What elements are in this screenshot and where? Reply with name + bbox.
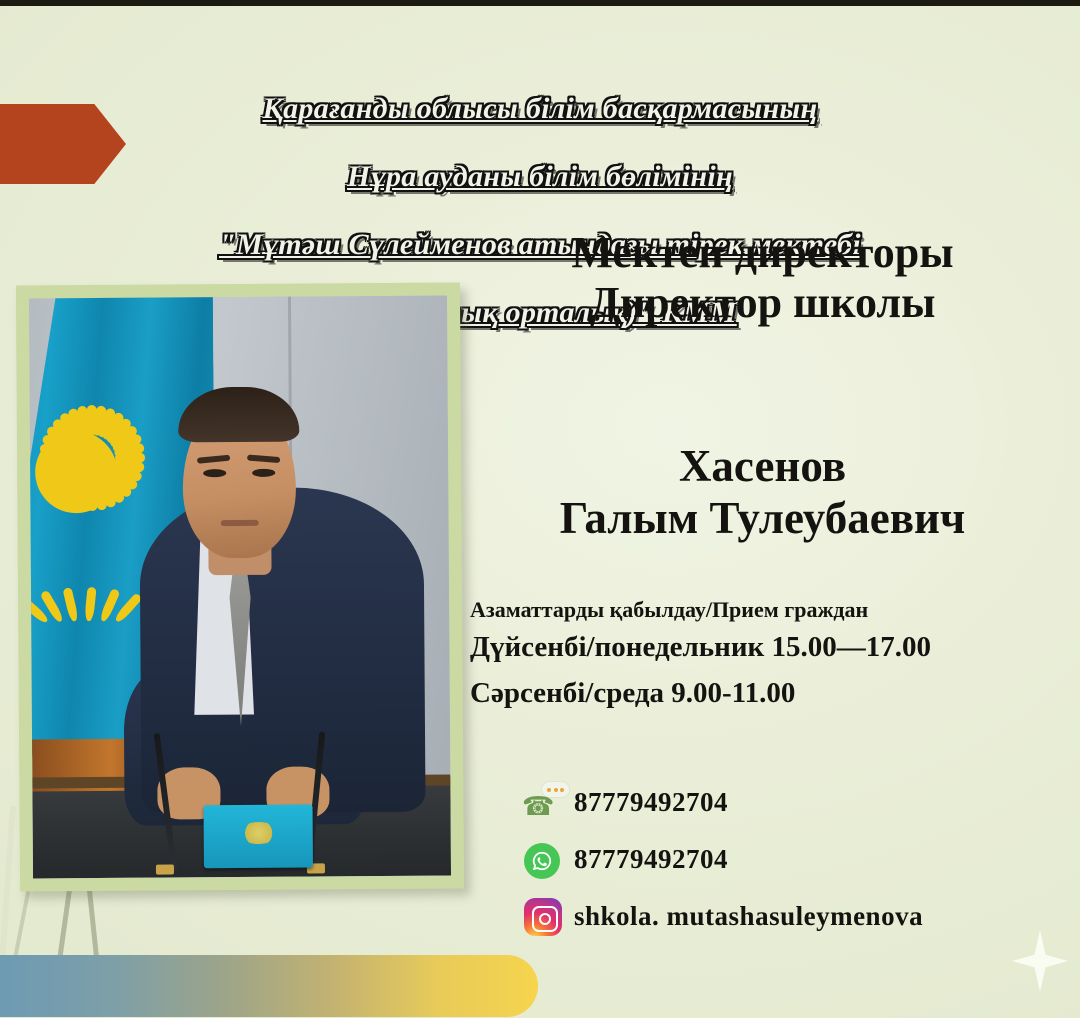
contact-row-phone[interactable]: ☎ 87779492704 (518, 778, 1078, 826)
top-edge-strip (0, 0, 1080, 6)
school-title-line-2: Нұра ауданы білім бөлімінің (40, 160, 1040, 194)
director-photo (29, 296, 451, 879)
notebook-emblem (239, 822, 278, 844)
contact-value-phone: 87779492704 (574, 787, 728, 818)
reception-heading: Азаматтарды қабылдау/Прием граждан (470, 596, 1070, 624)
whatsapp-icon (518, 837, 574, 881)
reception-line-monday: Дүйсенбі/понедельник 15.00—17.00 (470, 624, 1070, 670)
person-mouth (221, 520, 259, 527)
phone-icon: ☎ (518, 780, 574, 824)
director-photo-frame (16, 282, 464, 891)
school-title-line-1: Қарағанды облысы білім басқармасының (40, 92, 1040, 126)
instagram-glyph (524, 898, 562, 936)
contact-value-instagram: shkola. mutashasuleymenova (574, 901, 923, 932)
contact-row-whatsapp[interactable]: 87779492704 (518, 835, 1078, 883)
flag-eagle (42, 584, 128, 621)
reception-hours-block: Азаматтарды қабылдау/Прием граждан Дүйсе… (470, 596, 1070, 716)
poster-canvas: Қарағанды облысы білім басқармасының Нұр… (0, 0, 1080, 1018)
director-name: Хасенов Галым Тулеубаевич (455, 440, 1070, 544)
person-eye-right (252, 469, 275, 477)
role-russian: Директор школы (455, 278, 1070, 328)
contact-value-whatsapp: 87779492704 (574, 844, 728, 875)
phone-handset-icon: ☎ (522, 796, 550, 818)
reception-line-wednesday: Сәрсенбі/среда 9.00-11.00 (470, 670, 1070, 716)
desk-pen-base-left (156, 864, 174, 874)
director-given-name: Галым Тулеубаевич (455, 492, 1070, 544)
whatsapp-circle (524, 843, 560, 879)
director-surname: Хасенов (455, 440, 1070, 492)
gradient-bar-decoration (0, 955, 538, 1017)
role-heading: Мектеп директоры Директор школы (455, 228, 1070, 328)
contacts-block: ☎ 87779492704 87779492704 shkola. mutash… (518, 778, 1078, 949)
flag-sun-rays (35, 431, 118, 514)
instagram-icon (518, 894, 574, 938)
role-kazakh: Мектеп директоры (455, 228, 1070, 278)
desk-notebook (204, 804, 313, 869)
contact-row-instagram[interactable]: shkola. mutashasuleymenova (518, 892, 1078, 940)
